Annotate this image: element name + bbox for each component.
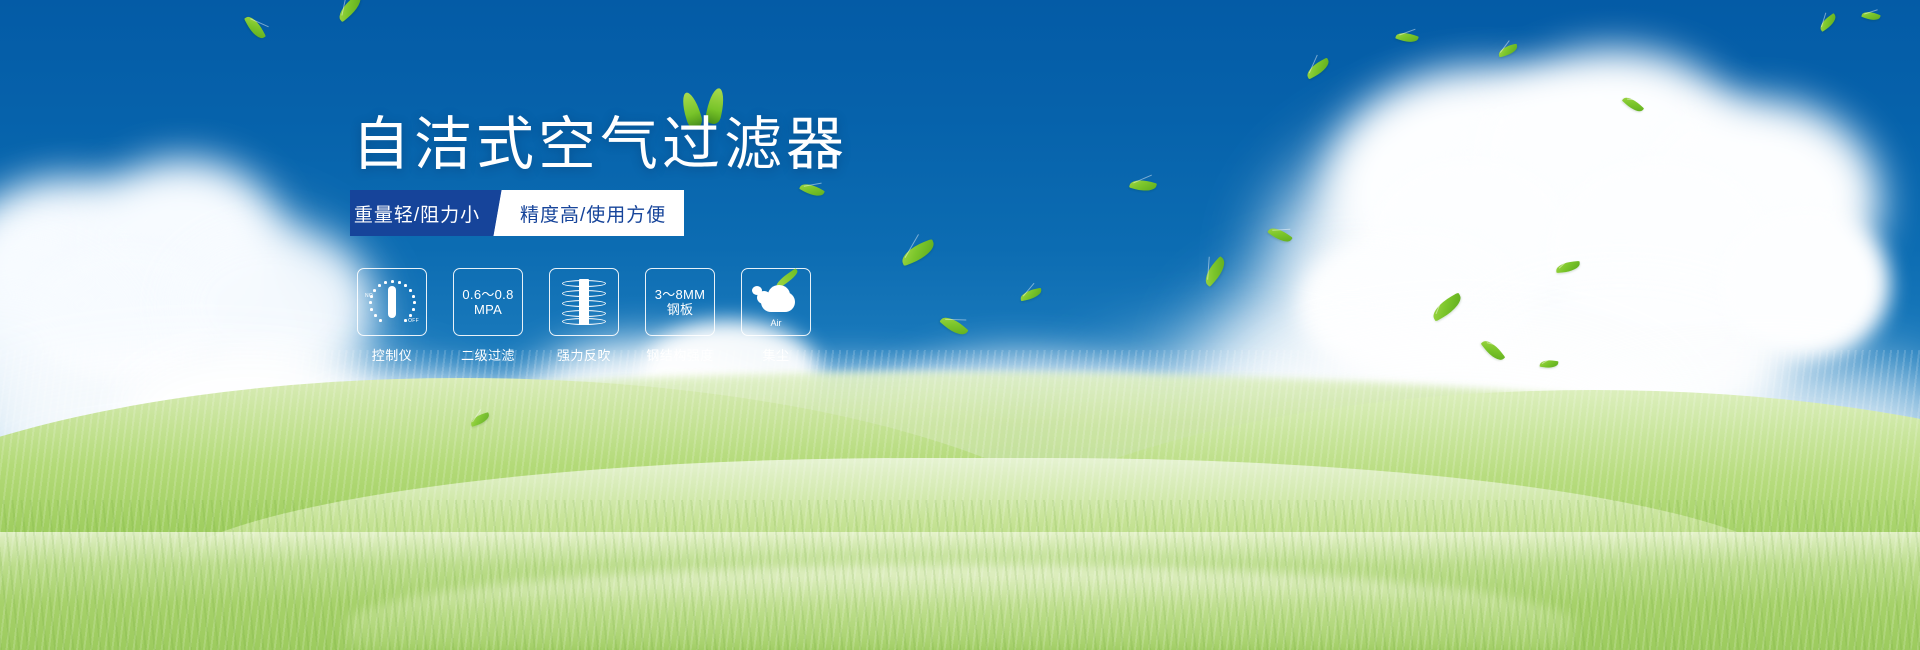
feature-icon-card: NO OFF (357, 268, 427, 336)
banner-hero: 自洁式空气过滤器 重量轻/阻力小 精度高/使用方便 (0, 0, 1920, 650)
feature-item[interactable]: 3～8MM 钢板 钢结构强度 (644, 268, 716, 364)
feature-label: 控制仪 (372, 345, 413, 364)
feature-icon-card: 0.6～0.8 MPA (453, 268, 523, 336)
feature-label: 二级过滤 (461, 345, 515, 364)
gauge-off-label: OFF (408, 318, 419, 324)
slogan-divider (482, 190, 516, 236)
air-cloud-icon: Air (752, 279, 800, 325)
pressure-range-text: 0.6～0.8 (462, 287, 513, 302)
gauge-on-label: NO (365, 293, 373, 299)
feature-item[interactable]: 0.6～0.8 MPA 二级过滤 (452, 268, 524, 364)
feature-icon-card: Air (741, 268, 811, 336)
feature-item[interactable]: Air 集尘 (740, 268, 812, 364)
page-title: 自洁式空气过滤器 (352, 116, 848, 174)
slogan-tabs: 重量轻/阻力小 精度高/使用方便 (350, 190, 684, 236)
steel-plate-text: 钢板 (655, 302, 706, 317)
feature-label: 集尘 (762, 345, 789, 364)
feature-item[interactable]: 强力反吹 (548, 268, 620, 364)
feature-item[interactable]: NO OFF 控制仪 (356, 268, 428, 364)
feature-icon-card (549, 268, 619, 336)
slogan-right: 精度高/使用方便 (516, 190, 684, 236)
feature-list: NO OFF 控制仪 0.6～0.8 MPA 二级过滤 (356, 268, 812, 364)
slogan-left: 重量轻/阻力小 (350, 190, 482, 236)
blowback-icon (562, 278, 606, 326)
feature-label: 强力反吹 (557, 345, 611, 364)
air-label: Air (752, 318, 800, 328)
feature-icon-card: 3～8MM 钢板 (645, 268, 715, 336)
pressure-unit-text: MPA (462, 302, 513, 317)
gauge-icon: NO OFF (366, 277, 418, 327)
steel-thickness-text: 3～8MM (655, 287, 706, 302)
feature-label: 钢结构强度 (646, 345, 714, 364)
